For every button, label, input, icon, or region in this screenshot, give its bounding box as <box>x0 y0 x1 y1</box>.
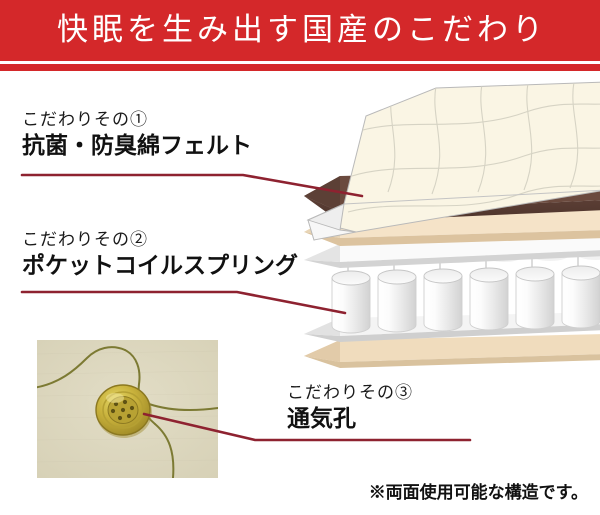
callout-3-headline: 通気孔 <box>287 405 413 434</box>
callout-vent: こだわりその③ 通気孔 <box>287 383 413 434</box>
callout-3-kicker: こだわりその③ <box>287 383 413 403</box>
callout-1-headline: 抗菌・防臭綿フェルト <box>22 132 252 161</box>
page-title: 快眠を生み出す国産のこだわり <box>53 15 547 46</box>
callout-2-headline: ポケットコイルスプリング <box>22 252 298 281</box>
footer-note: ※両面使用可能な構造です。 <box>369 478 588 503</box>
callout-1-kicker: こだわりその① <box>22 110 252 130</box>
vent-hole-photo <box>37 340 218 478</box>
callout-2-kicker: こだわりその② <box>22 230 298 250</box>
header-banner: 快眠を生み出す国産のこだわり <box>0 0 600 61</box>
callout-felt: こだわりその① 抗菌・防臭綿フェルト <box>22 110 252 161</box>
vent-grommet <box>96 385 152 438</box>
banner-accent-rule <box>0 64 600 71</box>
callout-spring: こだわりその② ポケットコイルスプリング <box>22 230 298 281</box>
mattress-cross-section <box>296 72 600 372</box>
infographic-root: 快眠を生み出す国産のこだわり <box>0 0 600 515</box>
